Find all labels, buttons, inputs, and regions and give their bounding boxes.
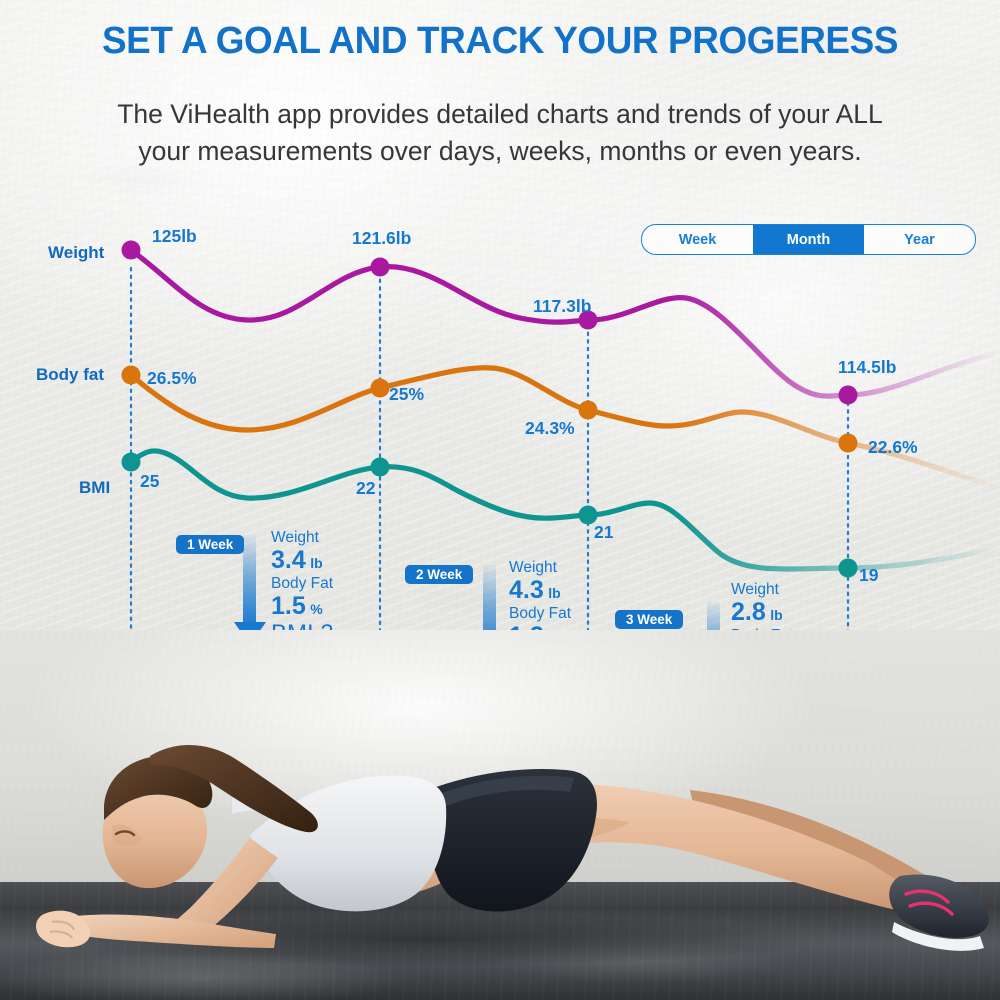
- weight-point-2[interactable]: [371, 258, 390, 277]
- body-fat-point-3[interactable]: [579, 401, 598, 420]
- bmi-point-1[interactable]: [122, 453, 141, 472]
- hero-photo: [0, 630, 1000, 1000]
- subtitle-line-2: your measurements over days, weeks, mont…: [50, 133, 950, 170]
- infographic-poster: SET A GOAL AND TRACK YOUR PROGERESS The …: [0, 0, 1000, 1000]
- page-subtitle: The ViHealth app provides detailed chart…: [50, 96, 950, 170]
- delta-2-weight-value: 4.3: [509, 576, 544, 604]
- delta-1-bodyfat-row: 1.5 %: [271, 593, 334, 620]
- body-fat-value-1: 26.5%: [147, 368, 197, 389]
- series-label-body-fat: Body fat: [36, 365, 104, 385]
- weight-point-4[interactable]: [839, 386, 858, 405]
- bmi-point-2[interactable]: [371, 458, 390, 477]
- weight-value-1: 125lb: [152, 226, 197, 247]
- body-fat-value-3: 24.3%: [525, 418, 575, 439]
- subtitle-line-1: The ViHealth app provides detailed chart…: [50, 96, 950, 133]
- delta-1-bodyfat-caption: Body Fat: [271, 574, 334, 593]
- delta-3-weight-row: 2.8 lb: [731, 599, 793, 626]
- bmi-value-1: 25: [140, 471, 159, 492]
- page-title: SET A GOAL AND TRACK YOUR PROGERESS: [15, 20, 985, 63]
- data-points: [122, 241, 858, 578]
- delta-1-weight-caption: Weight: [271, 528, 334, 547]
- weight-value-3: 117.3lb: [533, 296, 591, 317]
- body-fat-point-4[interactable]: [839, 434, 858, 453]
- delta-2-bodyfat-caption: Body Fat: [509, 604, 572, 623]
- delta-3-weight-caption: Weight: [731, 580, 793, 599]
- weight-value-4: 114.5lb: [838, 357, 896, 378]
- delta-pill-2-week: 2 Week: [405, 565, 473, 584]
- weight-point-1[interactable]: [122, 241, 141, 260]
- series-label-bmi: BMI: [79, 478, 110, 498]
- delta-1-weight-value: 3.4: [271, 546, 306, 574]
- delta-1-bodyfat-value: 1.5: [271, 592, 306, 620]
- weight-value-2: 121.6lb: [352, 228, 411, 249]
- series-label-weight: Weight: [48, 243, 104, 263]
- plank-figure: [0, 630, 1000, 1000]
- bmi-point-4[interactable]: [839, 559, 858, 578]
- delta-3-weight-value: 2.8: [731, 598, 766, 626]
- delta-1-weight-unit: lb: [310, 555, 322, 571]
- body-fat-point-1[interactable]: [122, 366, 141, 385]
- delta-2-weight-unit: lb: [548, 585, 560, 601]
- body-fat-value-2: 25%: [389, 384, 424, 405]
- bmi-value-3: 21: [594, 522, 613, 543]
- body-fat-value-4: 22.6%: [868, 437, 918, 458]
- delta-2-weight-caption: Weight: [509, 558, 572, 577]
- delta-1-weight-row: 3.4 lb: [271, 547, 334, 574]
- body-fat-point-2[interactable]: [371, 379, 390, 398]
- bmi-value-4: 19: [859, 565, 878, 586]
- delta-2-weight-row: 4.3 lb: [509, 577, 572, 604]
- delta-pill-1-week: 1 Week: [176, 535, 244, 554]
- delta-3-weight-unit: lb: [770, 607, 782, 623]
- delta-1-bodyfat-unit: %: [310, 601, 322, 617]
- bmi-trend-line: [131, 451, 1000, 569]
- delta-pill-3-week: 3 Week: [615, 610, 683, 629]
- bmi-value-2: 22: [356, 478, 375, 499]
